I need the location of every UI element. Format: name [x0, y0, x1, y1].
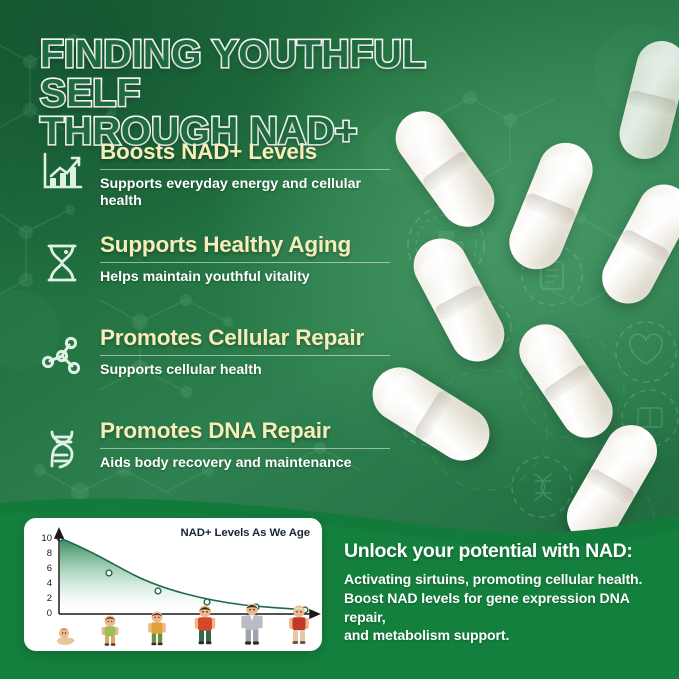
y-axis-tick-labels: 10 8 6 4 2 0 — [41, 533, 52, 619]
capsule-pill — [501, 135, 601, 278]
feature-divider — [100, 262, 390, 263]
feature-subtitle: Supports everyday energy and cellular he… — [100, 176, 390, 210]
svg-text:2: 2 — [47, 593, 52, 604]
age-figure-adult — [240, 602, 264, 646]
title-line-1: FINDING YOUTHFUL SELF — [40, 36, 510, 113]
feature-heading: Promotes DNA Repair — [100, 419, 390, 444]
age-figure-youth — [146, 610, 168, 646]
capsule-pill — [404, 229, 514, 371]
feature-subtitle: Helps maintain youthful vitality — [100, 269, 390, 286]
feature-divider — [100, 355, 390, 356]
age-figure-elderly — [287, 604, 311, 646]
chart-area-fill — [60, 538, 308, 612]
feature-list: Boosts NAD+ Levels Supports everyday ene… — [38, 140, 390, 512]
page-title: FINDING YOUTHFUL SELF THROUGH NAD+ — [40, 36, 510, 152]
cta-block: Unlock your potential with NAD: Activati… — [344, 540, 662, 645]
product-infographic-poster: FINDING YOUTHFUL SELF THROUGH NAD+ — [0, 0, 679, 679]
age-figure-baby — [52, 620, 78, 646]
cta-line-1: Activating sirtuins, promoting cellular … — [344, 570, 662, 589]
capsule-pill — [509, 314, 623, 448]
svg-text:4: 4 — [47, 578, 52, 589]
age-figure-row — [24, 612, 322, 646]
feature-subtitle: Supports cellular health — [100, 362, 390, 379]
feature-item-promotes-cellular-repair: Promotes Cellular Repair Supports cellul… — [38, 326, 390, 414]
hourglass-icon — [38, 239, 86, 287]
feature-item-boosts-nad-levels: Boosts NAD+ Levels Supports everyday ene… — [38, 140, 390, 228]
svg-text:10: 10 — [41, 533, 52, 544]
capsule-pill — [593, 175, 679, 312]
cta-line-3: and metabolism support. — [344, 626, 662, 645]
feature-divider — [100, 448, 390, 449]
feature-item-supports-healthy-aging: Supports Healthy Aging Helps maintain yo… — [38, 233, 390, 321]
feature-subtitle: Aids body recovery and maintenance — [100, 455, 390, 472]
feature-heading: Promotes Cellular Repair — [100, 326, 390, 351]
age-figure-teen — [193, 604, 217, 646]
cta-heading: Unlock your potential with NAD: — [344, 540, 662, 563]
feature-divider — [100, 169, 390, 170]
bar-chart-growth-icon — [38, 146, 86, 194]
feature-heading: Supports Healthy Aging — [100, 233, 390, 258]
nad-levels-chart-card: NAD+ Levels As We Age 10 8 6 4 2 0 — [24, 518, 322, 651]
cta-line-2: Boost NAD levels for gene expression DNA… — [344, 589, 662, 626]
capsule-pill — [614, 36, 679, 165]
feature-heading: Boosts NAD+ Levels — [100, 140, 390, 165]
molecule-icon — [38, 332, 86, 380]
dna-helix-icon — [38, 425, 86, 473]
svg-text:6: 6 — [47, 563, 52, 574]
svg-text:8: 8 — [47, 548, 52, 559]
age-figure-child — [99, 614, 121, 646]
